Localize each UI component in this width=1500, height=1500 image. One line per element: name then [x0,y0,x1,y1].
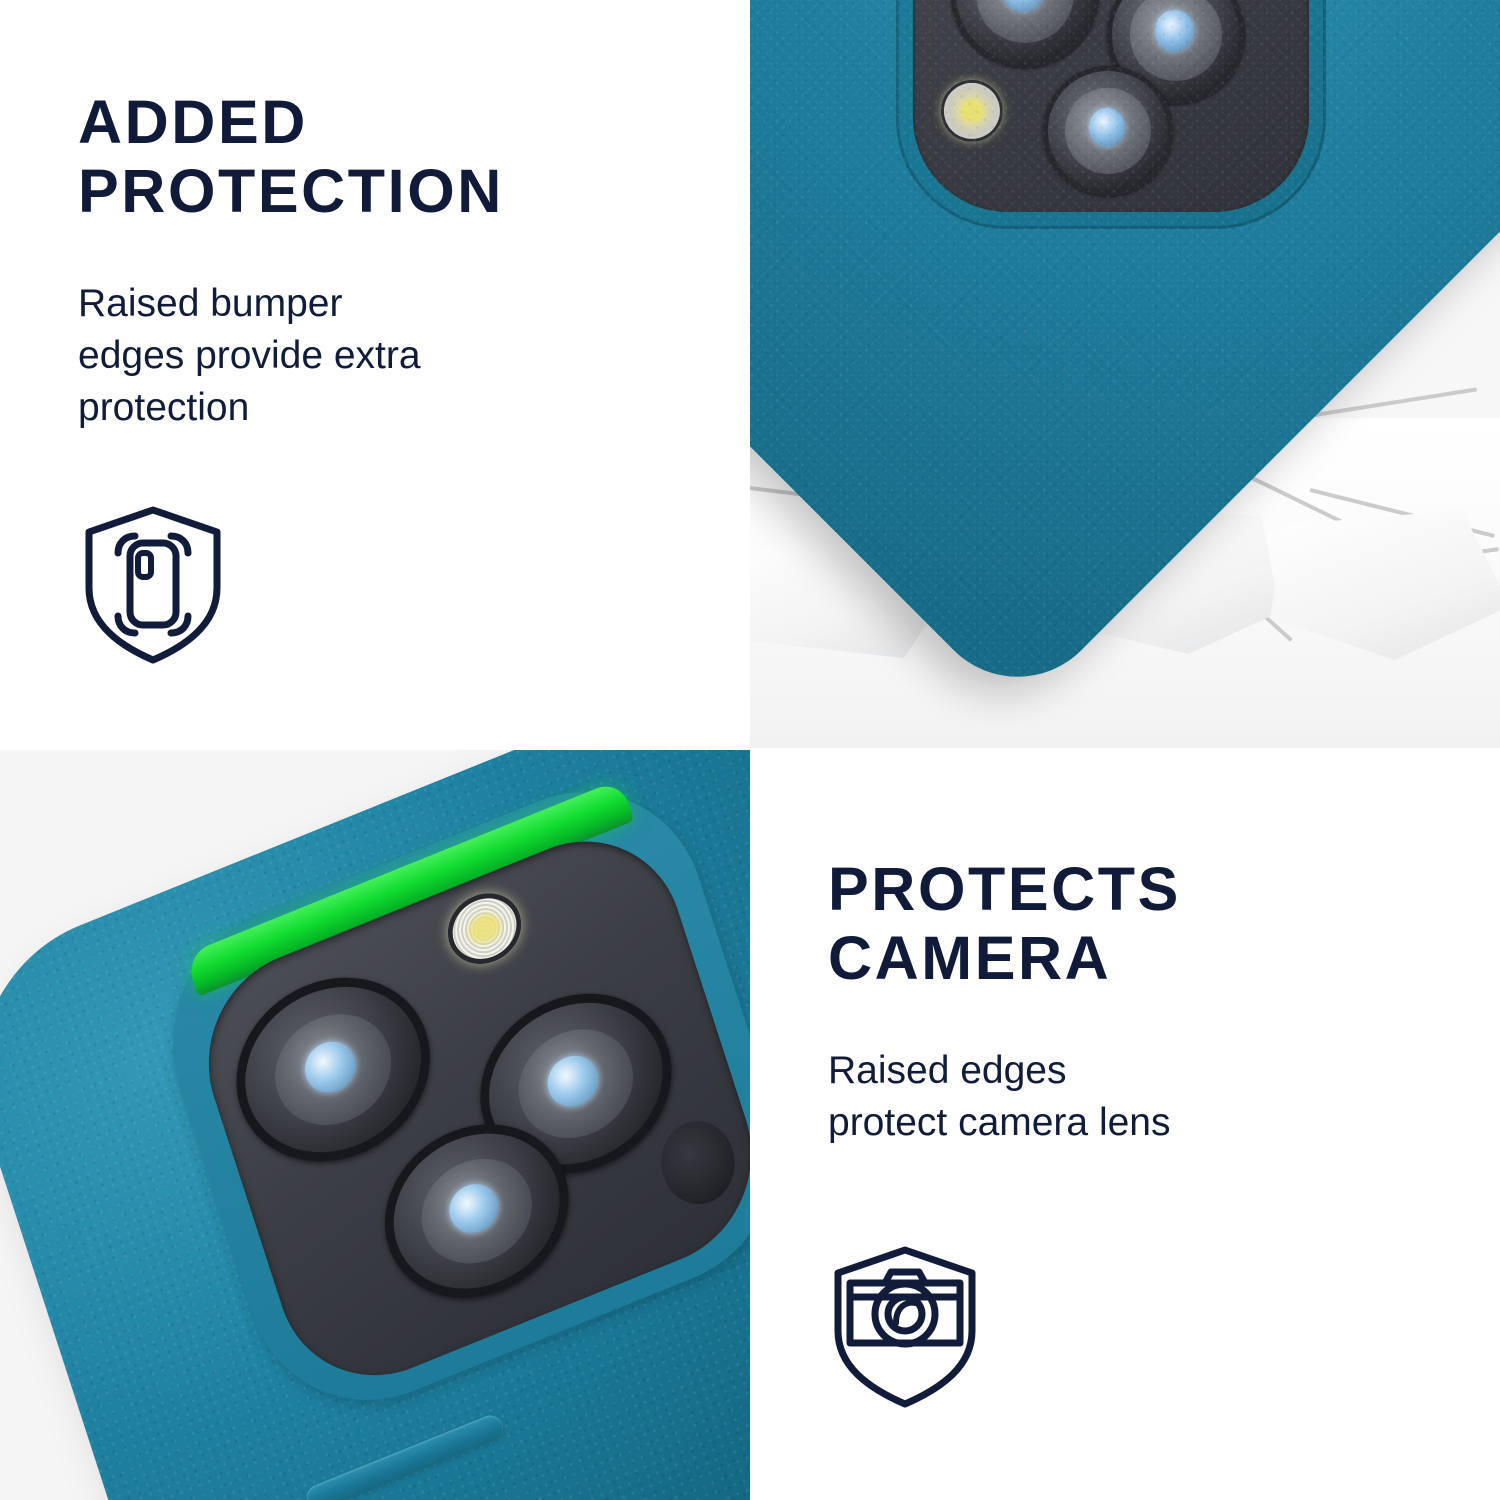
protects-camera-text-block: PROTECTS CAMERA Raised edges protect cam… [828,855,1448,1149]
shield-phone-icon [78,505,228,665]
lidar-sensor [651,1110,745,1216]
bezel-photo-stage [0,750,750,1500]
shield-camera-icon [828,1245,983,1410]
camera-module-bezel-tr [896,0,1326,229]
panel-added-protection: ADDED PROTECTION Raised bumper edges pro… [0,0,750,748]
camera-flash [439,882,531,975]
panel-protects-camera: PROTECTS CAMERA Raised edges protect cam… [750,750,1500,1500]
protects-camera-headline: PROTECTS CAMERA [828,855,1448,993]
panel-impact-photo [750,0,1500,748]
camera-lens-2 [1107,0,1245,104]
camera-lens-1 [951,0,1099,68]
camera-lens-3 [1043,66,1173,196]
camera-module-tr [913,0,1309,212]
added-protection-subcopy: Raised bumper edges provide extra protec… [78,278,678,435]
impact-photo-stage [750,0,1500,748]
camera-flash [941,80,1003,142]
product-feature-grid: ADDED PROTECTION Raised bumper edges pro… [0,0,1500,1500]
added-protection-headline: ADDED PROTECTION [78,88,678,226]
added-protection-text-block: ADDED PROTECTION Raised bumper edges pro… [78,88,678,435]
panel-raised-bezel-photo [0,750,750,1500]
protects-camera-subcopy: Raised edges protect camera lens [828,1045,1448,1150]
